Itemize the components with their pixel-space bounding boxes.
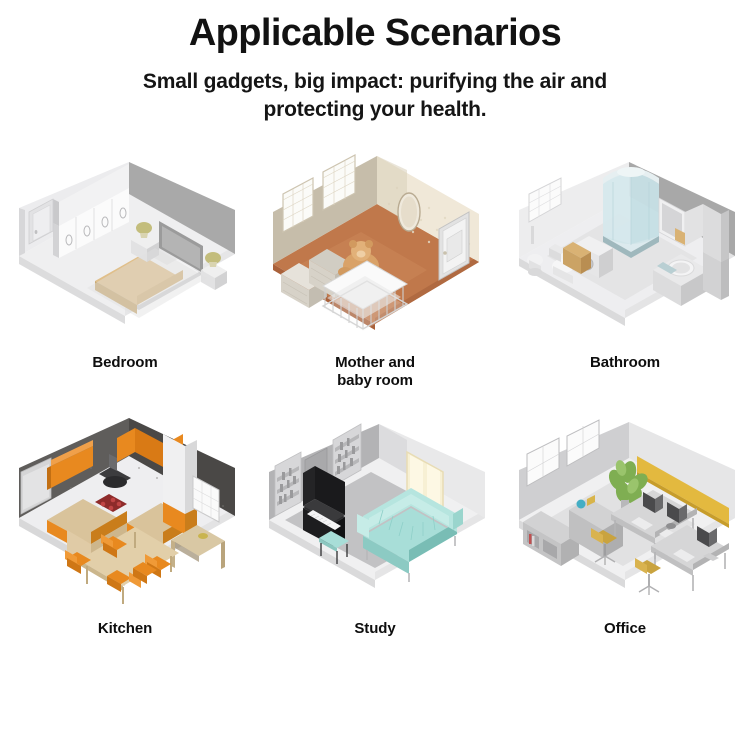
mother-and-baby-room-illustration (257, 148, 493, 348)
scenario-card-office[interactable]: Office (500, 410, 750, 658)
scenario-grid: Bedroom (0, 148, 750, 658)
scenario-label-line: baby room (335, 372, 415, 390)
scenario-label-line: Bedroom (92, 354, 157, 372)
page-subtitle: Small gadgets, big impact: purifying the… (105, 68, 645, 123)
scenario-card-bedroom[interactable]: Bedroom (0, 148, 250, 410)
study-illustration (257, 410, 493, 610)
scenario-label-line: Bathroom (590, 354, 660, 372)
scenario-label-study: Study (354, 620, 395, 638)
scenario-card-study[interactable]: Study (250, 410, 500, 658)
scenario-label-mother-and-baby-room: Mother and baby room (335, 354, 415, 391)
scenario-label-line: Kitchen (98, 620, 152, 638)
kitchen-illustration (7, 410, 243, 610)
scenario-card-mother-and-baby-room[interactable]: Mother and baby room (250, 148, 500, 410)
bedroom-illustration (7, 148, 243, 348)
scenario-label-line: Study (354, 620, 395, 638)
scenario-infographic: Applicable Scenarios Small gadgets, big … (0, 0, 750, 750)
scenario-card-bathroom[interactable]: Bathroom (500, 148, 750, 410)
scenario-card-kitchen[interactable]: Kitchen (0, 410, 250, 658)
scenario-label-line: Mother and (335, 354, 415, 372)
bathroom-illustration (507, 148, 743, 348)
scenario-label-line: Office (604, 620, 646, 638)
header: Applicable Scenarios Small gadgets, big … (0, 0, 750, 123)
office-illustration (507, 410, 743, 610)
scenario-label-bathroom: Bathroom (590, 354, 660, 372)
page-title: Applicable Scenarios (0, 14, 750, 54)
scenario-label-bedroom: Bedroom (92, 354, 157, 372)
scenario-label-kitchen: Kitchen (98, 620, 152, 638)
scenario-label-office: Office (604, 620, 646, 638)
